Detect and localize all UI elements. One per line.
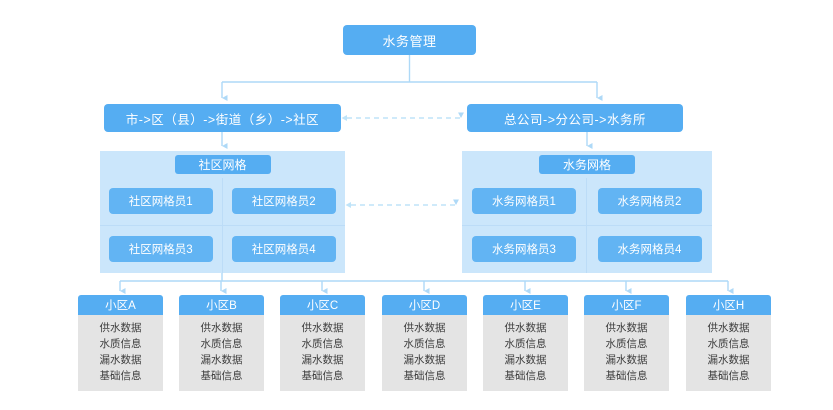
root-to-branches-connector bbox=[222, 55, 597, 98]
community-grid-member-2[interactable]: 社区网格员2 bbox=[232, 188, 336, 214]
branch-to-panel-connector bbox=[222, 132, 587, 146]
grid-cell: 社区网格员4 bbox=[223, 226, 346, 274]
grid-cell: 水务网格员2 bbox=[587, 178, 712, 226]
community-card-title: 小区D bbox=[382, 295, 467, 315]
community-card-title: 小区C bbox=[280, 295, 365, 315]
grid-cell: 社区网格员2 bbox=[223, 178, 346, 226]
community-grid-member-3[interactable]: 社区网格员3 bbox=[109, 236, 213, 262]
community-card-row[interactable]: 水质信息 bbox=[280, 336, 365, 352]
root-node[interactable]: 水务管理 bbox=[343, 25, 476, 55]
community-card[interactable]: 小区E供水数据水质信息漏水数据基础信息 bbox=[483, 295, 568, 391]
community-card-title: 小区E bbox=[483, 295, 568, 315]
community-card-row[interactable]: 供水数据 bbox=[584, 320, 669, 336]
community-card[interactable]: 小区F供水数据水质信息漏水数据基础信息 bbox=[584, 295, 669, 391]
community-card-row[interactable]: 供水数据 bbox=[483, 320, 568, 336]
grid-cell: 水务网格员1 bbox=[462, 178, 587, 226]
community-card-row[interactable]: 基础信息 bbox=[382, 368, 467, 384]
community-card-title: 小区B bbox=[179, 295, 264, 315]
community-card-row[interactable]: 水质信息 bbox=[78, 336, 163, 352]
community-grid-member-1[interactable]: 社区网格员1 bbox=[109, 188, 213, 214]
community-card-row[interactable]: 漏水数据 bbox=[686, 352, 771, 368]
community-card-row[interactable]: 供水数据 bbox=[382, 320, 467, 336]
water-grid-member-2[interactable]: 水务网格员2 bbox=[598, 188, 702, 214]
community-card-row[interactable]: 基础信息 bbox=[584, 368, 669, 384]
community-card-row[interactable]: 水质信息 bbox=[382, 336, 467, 352]
community-card-row[interactable]: 漏水数据 bbox=[584, 352, 669, 368]
community-card-row[interactable]: 供水数据 bbox=[179, 320, 264, 336]
community-card-row[interactable]: 基础信息 bbox=[686, 368, 771, 384]
community-card-title: 小区F bbox=[584, 295, 669, 315]
grid-cell: 水务网格员4 bbox=[587, 226, 712, 274]
community-card[interactable]: 小区A供水数据水质信息漏水数据基础信息 bbox=[78, 295, 163, 391]
community-card-body: 供水数据水质信息漏水数据基础信息 bbox=[179, 315, 264, 391]
community-card-row[interactable]: 基础信息 bbox=[483, 368, 568, 384]
panel-water-grid: 水务网格 水务网格员1 水务网格员2 水务网格员3 水务网格员4 bbox=[462, 151, 712, 273]
community-card-title: 小区H bbox=[686, 295, 771, 315]
grid-cell: 社区网格员1 bbox=[100, 178, 223, 226]
community-card-body: 供水数据水质信息漏水数据基础信息 bbox=[78, 315, 163, 391]
grid-cell: 社区网格员3 bbox=[100, 226, 223, 274]
grid-cell: 水务网格员3 bbox=[462, 226, 587, 274]
community-card-row[interactable]: 漏水数据 bbox=[78, 352, 163, 368]
water-grid-member-3[interactable]: 水务网格员3 bbox=[472, 236, 576, 262]
community-card[interactable]: 小区B供水数据水质信息漏水数据基础信息 bbox=[179, 295, 264, 391]
community-card-body: 供水数据水质信息漏水数据基础信息 bbox=[584, 315, 669, 391]
panel-community-grid: 社区网格 社区网格员1 社区网格员2 社区网格员3 社区网格员4 bbox=[100, 151, 345, 273]
water-grid-cells: 水务网格员1 水务网格员2 水务网格员3 水务网格员4 bbox=[462, 178, 712, 273]
panel-title-community-grid: 社区网格 bbox=[175, 155, 271, 174]
community-grid-member-4[interactable]: 社区网格员4 bbox=[232, 236, 336, 262]
community-card-row[interactable]: 水质信息 bbox=[179, 336, 264, 352]
community-card[interactable]: 小区H供水数据水质信息漏水数据基础信息 bbox=[686, 295, 771, 391]
community-card-body: 供水数据水质信息漏水数据基础信息 bbox=[686, 315, 771, 391]
community-card-body: 供水数据水质信息漏水数据基础信息 bbox=[382, 315, 467, 391]
community-card-row[interactable]: 漏水数据 bbox=[382, 352, 467, 368]
branch-node-government[interactable]: 市->区（县）->街道（乡）->社区 bbox=[104, 104, 341, 132]
community-card-row[interactable]: 漏水数据 bbox=[280, 352, 365, 368]
community-card-row[interactable]: 供水数据 bbox=[280, 320, 365, 336]
panel-title-water-grid: 水务网格 bbox=[539, 155, 635, 174]
community-card-row[interactable]: 水质信息 bbox=[686, 336, 771, 352]
community-card-row[interactable]: 基础信息 bbox=[280, 368, 365, 384]
community-card[interactable]: 小区D供水数据水质信息漏水数据基础信息 bbox=[382, 295, 467, 391]
diagram-canvas: 水务管理 市->区（县）->街道（乡）->社区 总公司->分公司->水务所 社区… bbox=[0, 0, 833, 410]
community-card[interactable]: 小区C供水数据水质信息漏水数据基础信息 bbox=[280, 295, 365, 391]
community-card-row[interactable]: 供水数据 bbox=[686, 320, 771, 336]
community-card-title: 小区A bbox=[78, 295, 163, 315]
community-card-body: 供水数据水质信息漏水数据基础信息 bbox=[280, 315, 365, 391]
panel-to-cards-connector bbox=[120, 273, 728, 291]
community-card-row[interactable]: 漏水数据 bbox=[179, 352, 264, 368]
community-card-row[interactable]: 水质信息 bbox=[483, 336, 568, 352]
community-card-row[interactable]: 基础信息 bbox=[179, 368, 264, 384]
branch-node-corporate[interactable]: 总公司->分公司->水务所 bbox=[467, 104, 683, 132]
community-card-row[interactable]: 基础信息 bbox=[78, 368, 163, 384]
community-card-row[interactable]: 水质信息 bbox=[584, 336, 669, 352]
community-card-body: 供水数据水质信息漏水数据基础信息 bbox=[483, 315, 568, 391]
community-card-row[interactable]: 漏水数据 bbox=[483, 352, 568, 368]
community-grid-cells: 社区网格员1 社区网格员2 社区网格员3 社区网格员4 bbox=[100, 178, 345, 273]
water-grid-member-4[interactable]: 水务网格员4 bbox=[598, 236, 702, 262]
community-card-row[interactable]: 供水数据 bbox=[78, 320, 163, 336]
water-grid-member-1[interactable]: 水务网格员1 bbox=[472, 188, 576, 214]
